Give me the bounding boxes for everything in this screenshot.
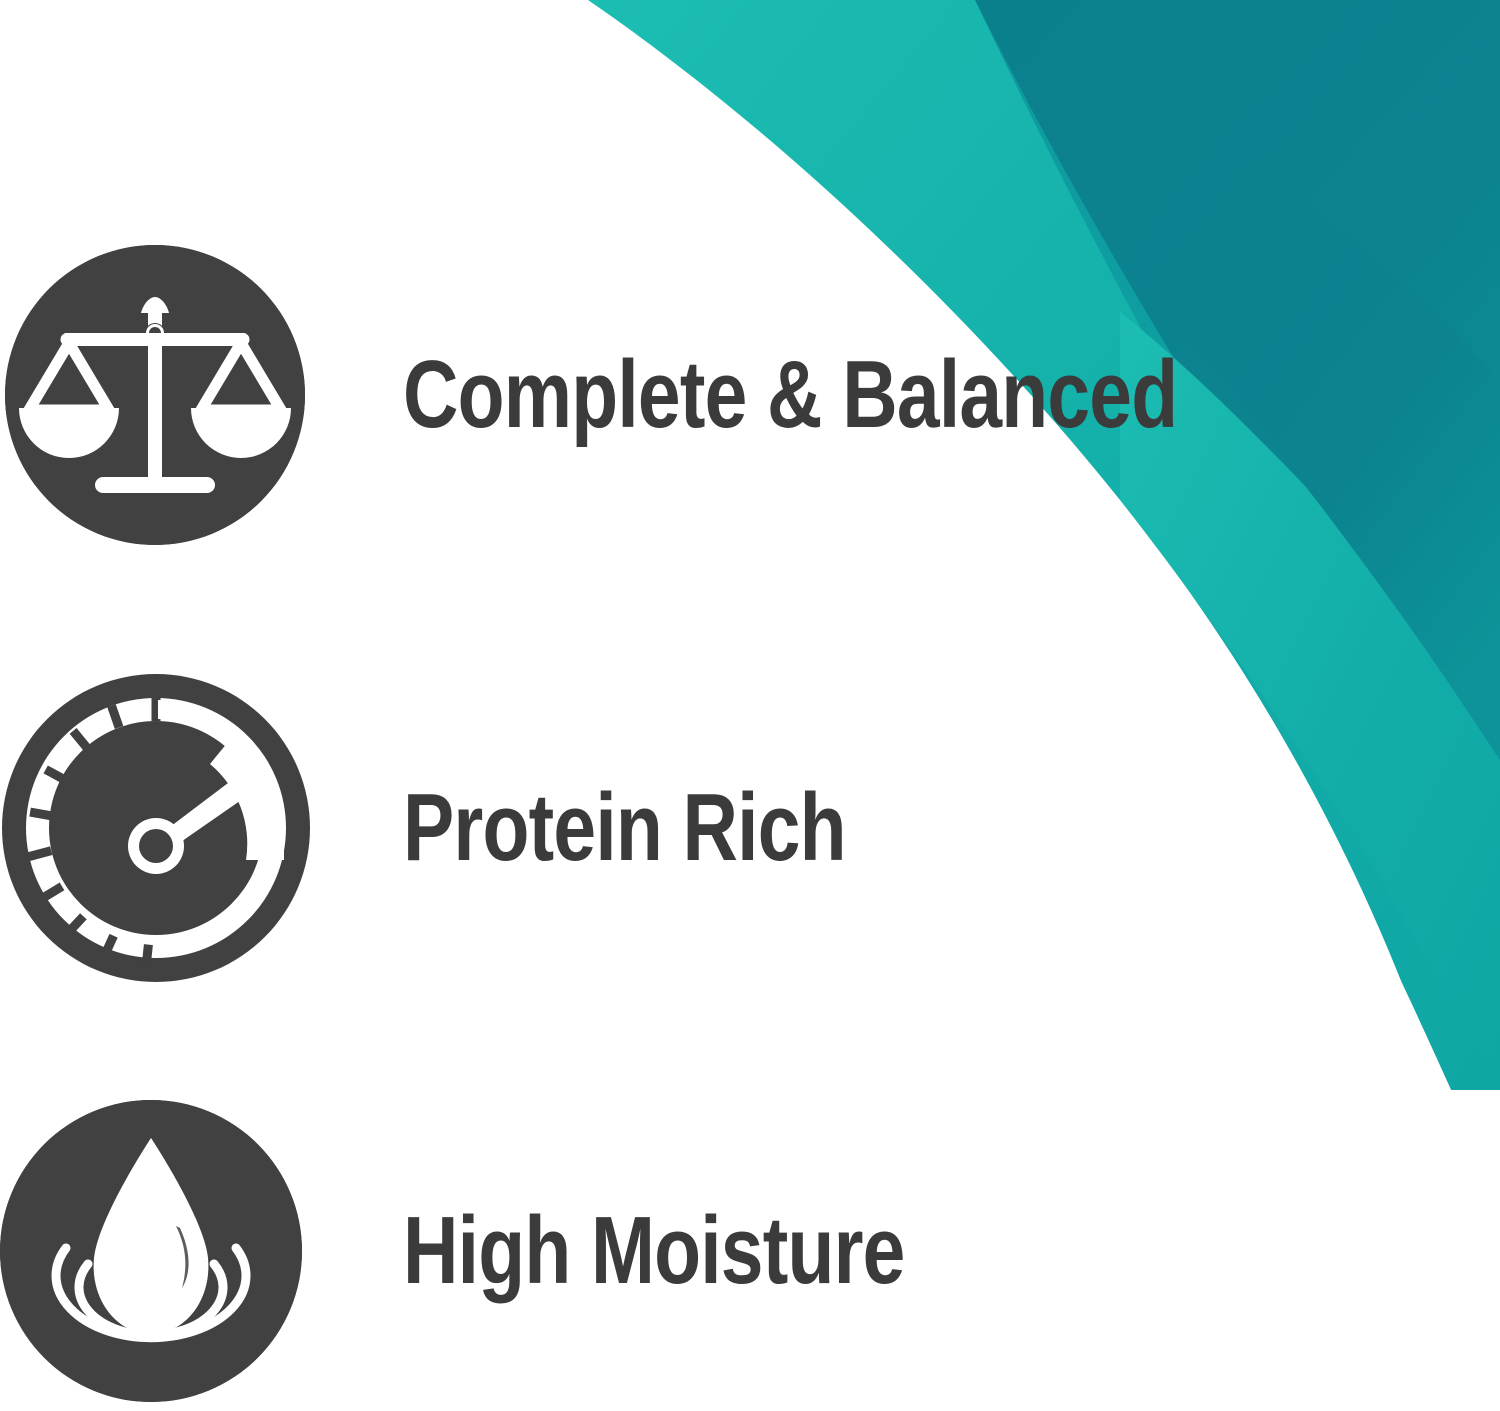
swoosh-tail-dark — [1180, 160, 1500, 760]
balance-scale-icon — [5, 245, 305, 545]
feature-label-protein-rich: Protein Rich — [403, 780, 846, 876]
feature-highlights-page: Complete & Balanced — [0, 0, 1500, 1411]
feature-label-high-moisture: High Moisture — [403, 1203, 905, 1299]
feature-row-complete-and-balanced: Complete & Balanced — [0, 245, 1200, 545]
water-drop-icon — [0, 1100, 302, 1402]
feature-row-protein-rich: Protein Rich — [0, 672, 1200, 984]
feature-label-complete-and-balanced: Complete & Balanced — [403, 347, 1177, 443]
feature-row-high-moisture: High Moisture — [0, 1100, 1200, 1402]
gauge-icon — [0, 672, 312, 984]
